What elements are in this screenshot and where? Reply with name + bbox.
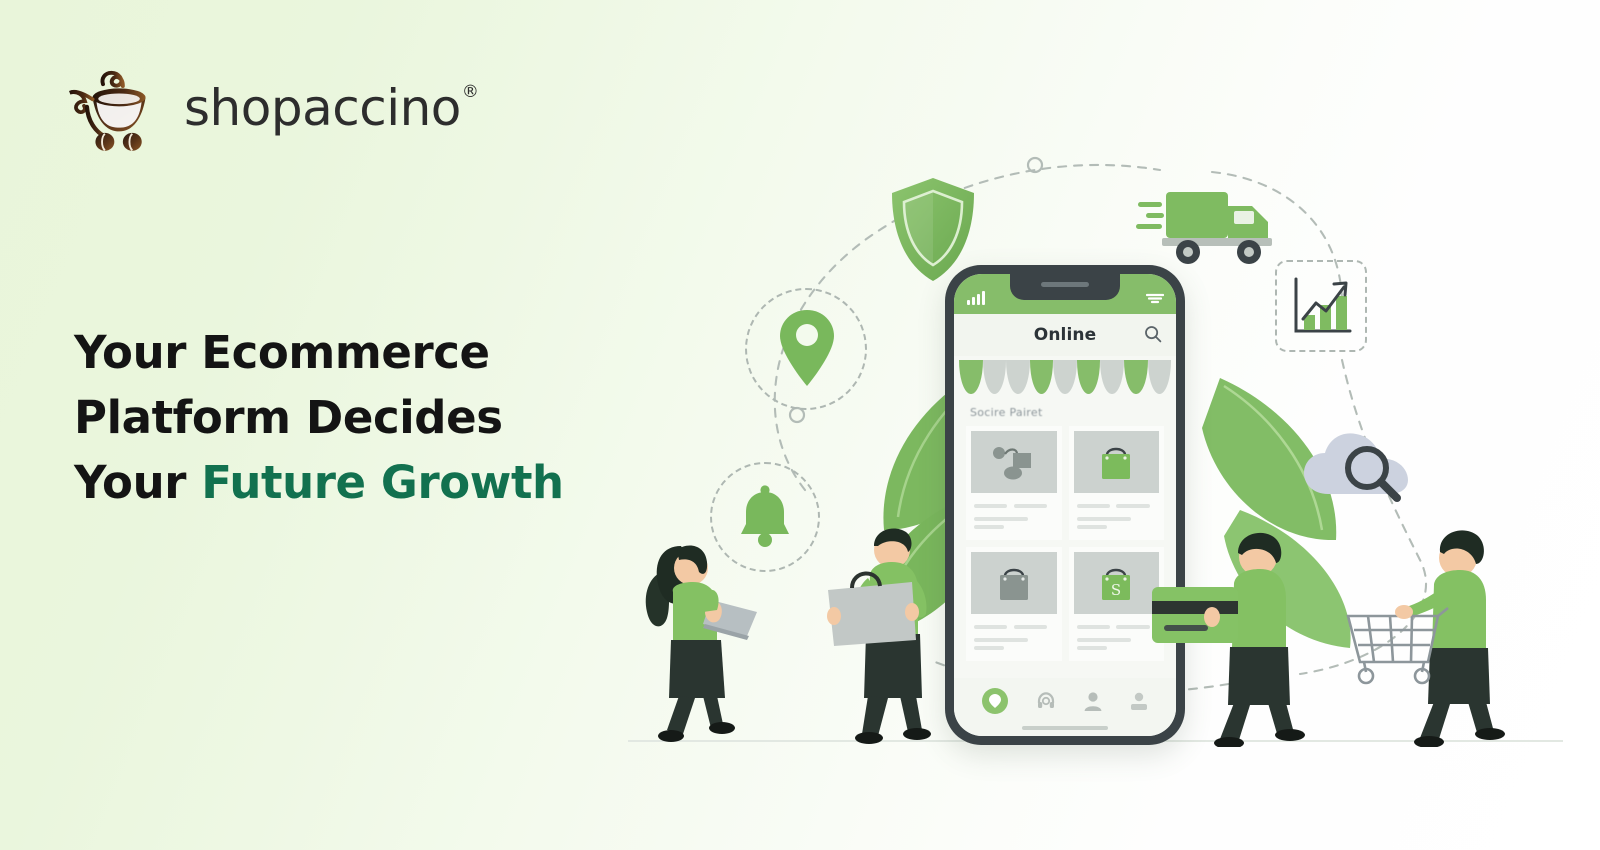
product-grid: S	[954, 426, 1176, 661]
phone-tab-bar	[954, 678, 1176, 736]
product-meta	[1074, 614, 1160, 650]
hero-banner: shopaccino® Your Ecommerce Platform Deci…	[0, 0, 1600, 850]
shopping-bag-icon	[994, 562, 1034, 604]
phone-screen: Online Socire Pairet	[954, 274, 1176, 736]
phone-notch	[1010, 274, 1120, 300]
woman-with-laptop	[625, 520, 765, 745]
headline-line-1: Your Ecommerce	[74, 326, 490, 379]
home-indicator	[1022, 726, 1108, 730]
svg-text:S: S	[1111, 581, 1121, 599]
account-icon[interactable]	[1130, 691, 1148, 711]
growth-chart-icon[interactable]	[1290, 275, 1354, 339]
product-card[interactable]	[966, 547, 1062, 661]
product-thumbnail: S	[1074, 552, 1160, 614]
brand-name: shopaccino	[184, 79, 461, 137]
headline-line-3-plain: Your	[74, 456, 201, 509]
branded-shopping-bag-icon: S	[1096, 562, 1136, 604]
phone-status-bar	[954, 274, 1176, 314]
section-label: Socire Pairet	[954, 394, 1176, 426]
brand-logo[interactable]: shopaccino®	[68, 52, 477, 156]
user-icon[interactable]	[1084, 691, 1102, 711]
man-with-shopping-bag	[812, 512, 952, 747]
product-meta	[1074, 493, 1160, 529]
app-header: Online	[954, 314, 1176, 356]
page-title: Your Ecommerce Platform Decides Your Fut…	[74, 320, 594, 515]
signal-bars-icon	[967, 291, 985, 305]
product-meta	[971, 493, 1057, 529]
search-icon[interactable]	[1144, 325, 1162, 343]
phone-mockup: Online Socire Pairet	[945, 265, 1185, 745]
man-with-shopping-cart	[1342, 512, 1522, 747]
headline-accent: Future Growth	[201, 456, 563, 509]
registered-mark: ®	[462, 82, 479, 102]
wifi-battery-icon	[1146, 292, 1164, 304]
shop-pin-icon	[989, 694, 1001, 708]
cloud-search-icon[interactable]	[1300, 428, 1420, 514]
store-awning	[954, 360, 1176, 394]
brand-wordmark: shopaccino®	[184, 79, 477, 137]
product-card[interactable]	[966, 426, 1062, 540]
product-meta	[971, 614, 1057, 650]
app-title: Online	[1034, 325, 1096, 345]
speaker-grill	[1041, 282, 1089, 287]
headline-line-2: Platform Decides	[74, 391, 503, 444]
location-pin-icon[interactable]	[778, 308, 836, 388]
shopping-bag-icon	[1096, 441, 1136, 483]
coffee-cup-cart-logo-icon	[68, 52, 172, 156]
shield-security-icon[interactable]	[888, 175, 978, 285]
man-with-credit-card	[1150, 515, 1320, 747]
product-thumbnail	[971, 552, 1057, 614]
product-thumbnail	[1074, 431, 1160, 493]
shopping-bag-icon	[991, 442, 1037, 482]
product-thumbnail	[971, 431, 1057, 493]
tab-shop[interactable]	[982, 688, 1008, 714]
hero-illustration: Online Socire Pairet	[600, 60, 1600, 850]
delivery-truck-icon[interactable]	[1136, 182, 1286, 272]
support-headset-icon[interactable]	[1036, 691, 1056, 711]
